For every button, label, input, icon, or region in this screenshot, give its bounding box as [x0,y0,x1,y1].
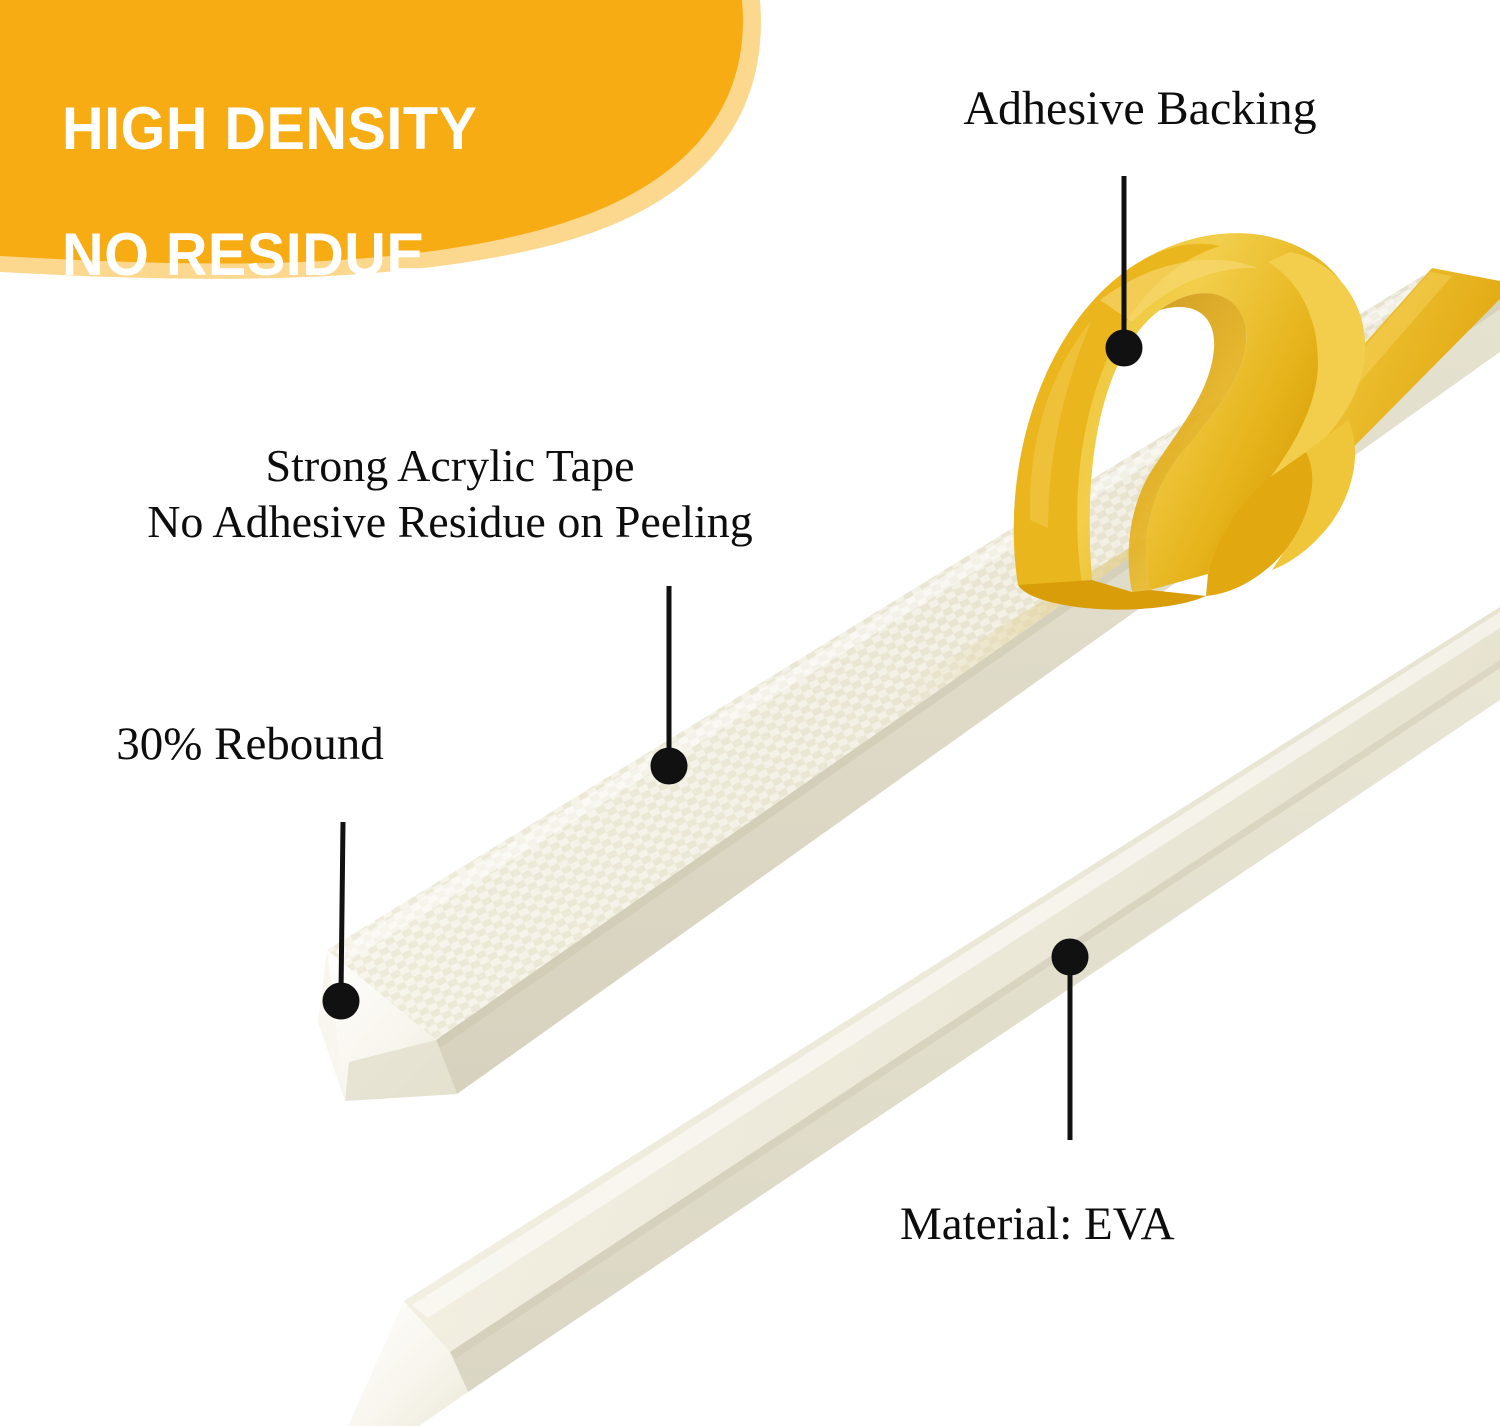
callout-adhesive-backing: Adhesive Backing [880,80,1400,139]
callout-material: Material: EVA [900,1196,1320,1253]
callout-rebound: 30% Rebound [40,716,460,773]
banner-title: HIGH DENSITY NO RESIDUE [62,34,657,349]
callout-acrylic-tape: Strong Acrylic Tape No Adhesive Residue … [30,438,870,550]
product-infographic: HIGH DENSITY NO RESIDUE Adhesive Backing… [0,0,1500,1426]
adhesive-liner-loop [1014,233,1365,609]
banner-title-line-1: HIGH DENSITY [62,97,657,160]
banner-title-line-2: NO RESIDUE [62,223,657,286]
